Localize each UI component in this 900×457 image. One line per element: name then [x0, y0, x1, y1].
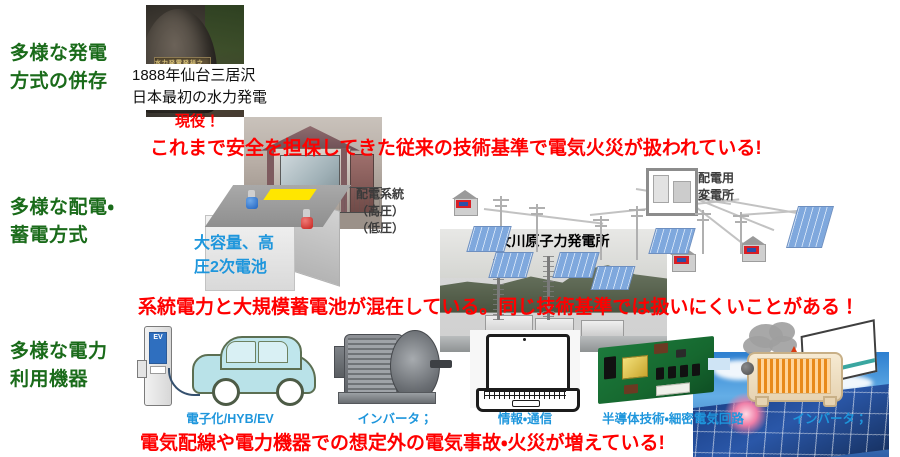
hydro-note-line2: 日本最初の水力発電: [132, 87, 267, 109]
heater-foot-right: [823, 396, 837, 407]
circuit-board-illustration: [590, 336, 750, 406]
pcb-transformer: [622, 355, 648, 380]
solar-panel-5: [648, 228, 695, 254]
pcb-transistor-4: [692, 363, 700, 376]
pcb-transistor-3: [680, 365, 688, 378]
solar-panel-3: [552, 252, 599, 278]
utility-pole-6: [740, 212, 742, 254]
house-window-inner: [677, 258, 686, 262]
ev-charging-illustration: EV: [140, 326, 320, 408]
house-window-inner: [459, 202, 468, 206]
battery-caption-line2: 圧2次電池: [194, 256, 274, 280]
car-window-front: [226, 341, 256, 363]
car-wheel-front: [212, 378, 240, 406]
pcb-capacitor-2: [624, 384, 638, 394]
ev-caption: 電子化/HYB/EV: [140, 408, 320, 427]
laptop-caption: 情報・通信: [470, 408, 580, 427]
battery-label-strip: [263, 189, 316, 200]
row-label-generation-line1: 多様な発電: [10, 40, 108, 68]
grid-system-caption-line3: （低圧）: [356, 220, 404, 237]
heater-knob[interactable]: [741, 362, 754, 375]
laptop-trackpad: [512, 400, 540, 407]
solar-panel-1: [466, 226, 511, 252]
electric-motor-illustration: [330, 328, 460, 408]
pcb-connector: [656, 382, 690, 396]
pcb-caption: 半導体技術・細密電気回路: [578, 408, 768, 427]
banner-devices: 電気配線や電力機器での想定外の電気事故・火災が増えている!: [140, 428, 665, 455]
battery-caption: 大容量、高 圧2次電池: [194, 232, 274, 280]
house-1: [452, 190, 478, 214]
grid-system-caption: 配電系統 （高圧） （低圧）: [356, 186, 404, 237]
grid-system-caption-line2: （高圧）: [356, 203, 404, 220]
utility-pole-2: [536, 204, 538, 252]
car-window-rear: [258, 341, 288, 363]
house-window: [744, 246, 759, 254]
pcb-chip: [676, 349, 686, 358]
heater-caption: インバータ；: [760, 408, 900, 427]
electric-heater-fire-illustration: [735, 322, 895, 408]
motor-shaft: [430, 360, 452, 368]
hydro-note: 1888年仙台三居沢 日本最初の水力発電: [128, 64, 271, 110]
hydro-note-line1: 1888年仙台三居沢: [132, 65, 267, 87]
battery-terminal-positive: [301, 217, 313, 229]
motor-caption: インバータ；: [330, 408, 460, 427]
charger-holster: [137, 360, 147, 378]
hydro-note-active: 現役！: [175, 110, 220, 131]
battery-caption-line1: 大容量、高: [194, 232, 274, 256]
battery-terminal-negative: [246, 197, 258, 209]
row-label-distribution-line2: 蓄電方式: [10, 222, 114, 250]
house-window: [674, 256, 689, 264]
substation-label: 配電用 変電所: [698, 170, 734, 204]
distribution-network-diagram: 配電用 変電所: [440, 168, 840, 290]
row-label-distribution: 多様な配電・ 蓄電方式: [10, 194, 114, 250]
house-window: [456, 200, 471, 208]
substation-icon: [646, 168, 698, 216]
laptop-camera-icon: [523, 338, 526, 341]
utility-pole-4: [636, 206, 638, 260]
row-label-devices-line1: 多様な電力: [10, 338, 108, 366]
car-wheel-rear: [276, 378, 304, 406]
pcb-ic-1: [604, 356, 616, 379]
pcb-heatsink-tab: [708, 358, 730, 370]
laptop-keyboard: [484, 391, 566, 399]
motor-cooling-fins: [348, 338, 396, 392]
heater-foot-left: [755, 396, 769, 407]
house-3: [740, 236, 766, 260]
pcb-transistor-2: [668, 366, 676, 379]
laptop-screen: [486, 334, 570, 394]
utility-pole-5: [702, 210, 704, 254]
pcb-transistor-1: [656, 367, 664, 380]
banner-distribution: 系統電力と大規模蓄電池が混在している。同じ技術基準では扱いにくいことがある！: [138, 292, 859, 319]
pcb-capacitor-1: [654, 343, 668, 354]
row-label-devices-line2: 利用機器: [10, 366, 108, 394]
motor-base: [338, 392, 436, 404]
row-label-generation-line2: 方式の併存: [10, 68, 108, 96]
banner-generation: これまで安全を担保してきた従来の技術基準で電気火災が扱われている!: [150, 133, 762, 160]
laptop-illustration: [470, 330, 580, 408]
row-label-devices: 多様な電力 利用機器: [10, 338, 108, 394]
heater-element-grill: [757, 358, 831, 394]
solar-panel-2: [488, 252, 533, 278]
charger-indicator: [150, 366, 166, 374]
solar-panel-4: [591, 266, 636, 290]
row-label-generation: 多様な発電 方式の併存: [10, 40, 108, 96]
grid-system-caption-line1: 配電系統: [356, 186, 404, 203]
pcb-board: [598, 336, 714, 404]
utility-pole-3: [600, 216, 602, 260]
house-window-inner: [747, 248, 756, 252]
slide-root: 多様な発電 方式の併存 水力発電発祥之地 女川原子力発電所: [0, 0, 900, 457]
charger-screen: EV: [149, 332, 167, 364]
substation-label-line2: 変電所: [698, 187, 734, 204]
row-label-distribution-line1: 多様な配電・: [10, 194, 114, 222]
substation-label-line1: 配電用: [698, 170, 734, 187]
